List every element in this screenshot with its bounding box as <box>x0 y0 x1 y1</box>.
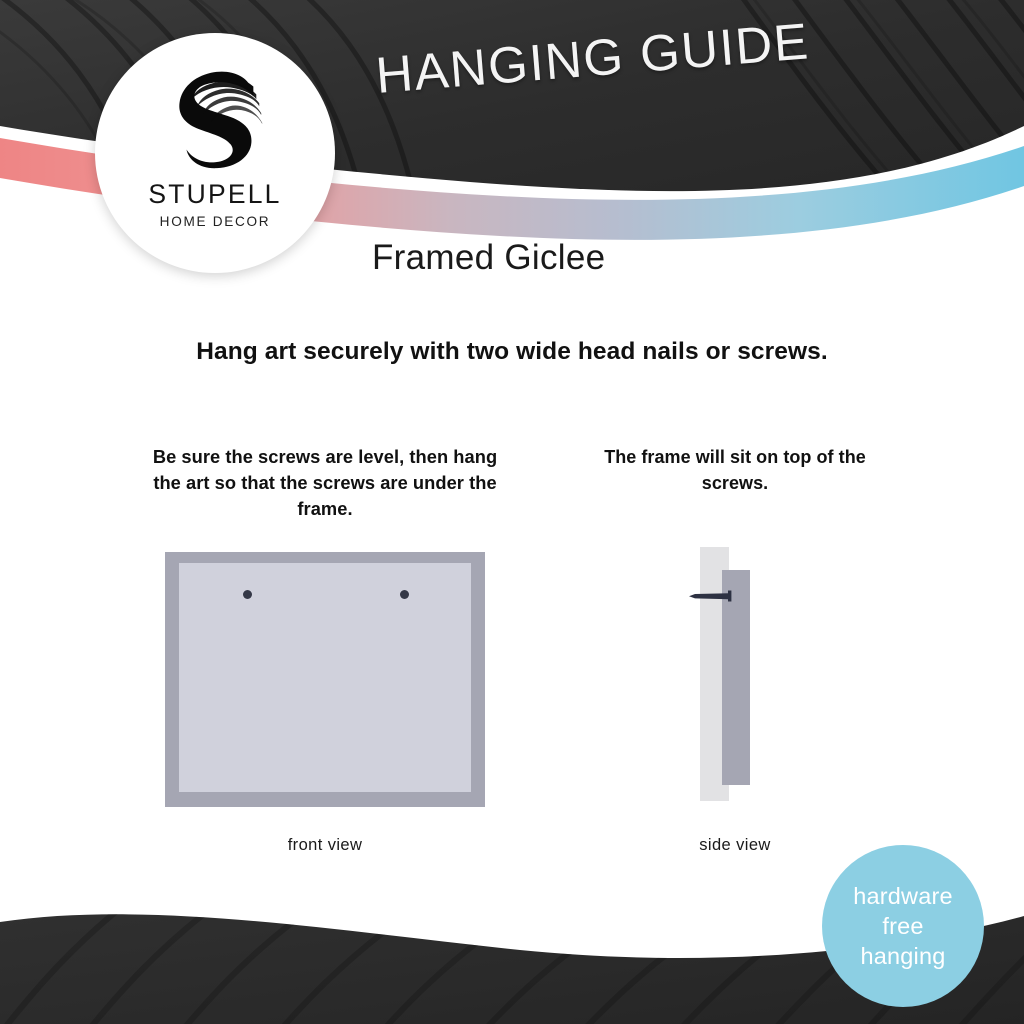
product-type-heading: Framed Giclee <box>372 238 605 278</box>
hanging-guide-page: STUPELL HOME DECOR HANGING GUIDE Framed … <box>0 0 1024 1024</box>
screw-dot-left-icon <box>243 590 252 599</box>
front-view-label: front view <box>165 836 485 855</box>
diagram-section: Be sure the screws are level, then hang … <box>0 444 1024 874</box>
front-view-frame-illustration <box>165 552 485 807</box>
stupell-swirl-logo-icon <box>156 59 274 177</box>
logo-subwordmark: HOME DECOR <box>160 215 271 229</box>
nail-icon <box>689 590 737 602</box>
page-title: HANGING GUIDE <box>374 6 877 105</box>
front-view-caption: Be sure the screws are level, then hang … <box>140 444 510 522</box>
screw-dot-right-icon <box>400 590 409 599</box>
front-view-column: Be sure the screws are level, then hang … <box>140 444 510 522</box>
main-instruction-text: Hang art securely with two wide head nai… <box>0 338 1024 366</box>
side-view-caption: The frame will sit on top of the screws. <box>585 444 885 496</box>
side-view-label: side view <box>635 836 835 855</box>
front-view-mat <box>179 563 471 792</box>
hardware-free-hanging-badge-text: hardware free hanging <box>853 881 953 971</box>
side-view-column: The frame will sit on top of the screws.… <box>585 444 885 496</box>
hardware-free-hanging-badge: hardware free hanging <box>822 845 984 1007</box>
side-view-frame-illustration <box>680 544 790 806</box>
logo-wordmark: STUPELL <box>148 181 281 208</box>
brand-logo-badge: STUPELL HOME DECOR <box>95 33 335 273</box>
side-view-frame-edge <box>722 570 750 785</box>
